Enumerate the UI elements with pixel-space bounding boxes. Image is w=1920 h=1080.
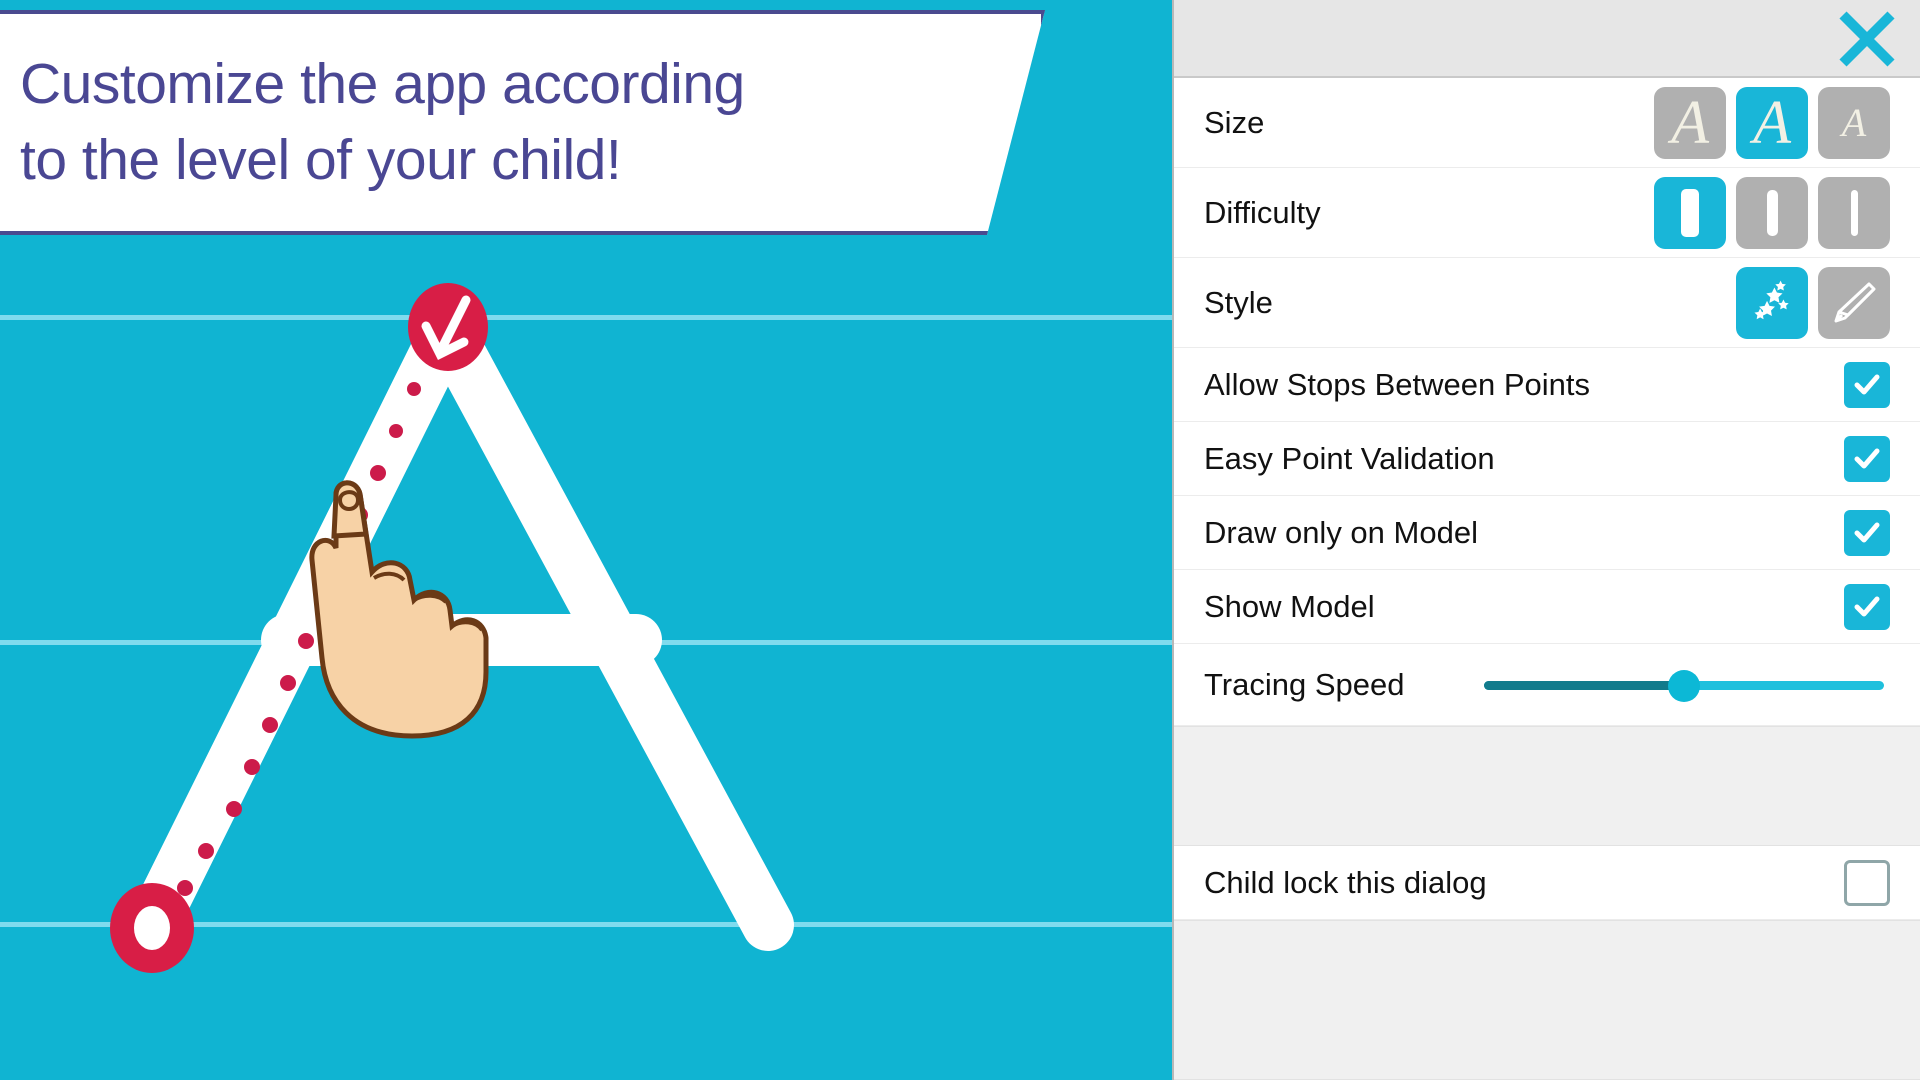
dialog-header [1174, 0, 1920, 78]
letter-a-glyph-small: A [1842, 103, 1866, 143]
style-option-group [1736, 267, 1890, 339]
row-label-show-model: Show Model [1204, 589, 1844, 625]
row-draw-only-on-model: Draw only on Model [1174, 496, 1920, 570]
checkbox-allow-stops[interactable] [1844, 362, 1890, 408]
row-difficulty: Difficulty [1174, 168, 1920, 258]
banner-line-2: to the level of your child! [20, 123, 1041, 199]
row-label-allow-stops: Allow Stops Between Points [1204, 367, 1844, 403]
slider-fill [1484, 681, 1684, 690]
style-option-pencil[interactable] [1818, 267, 1890, 339]
row-label-style: Style [1204, 285, 1736, 321]
size-option-group: A A A [1654, 87, 1890, 159]
settings-dialog: Size A A A Difficulty [1172, 0, 1920, 1080]
row-label-tracing-speed: Tracing Speed [1204, 667, 1484, 703]
slider-thumb[interactable] [1668, 670, 1700, 702]
bar-medium-icon [1767, 190, 1778, 236]
row-show-model: Show Model [1174, 570, 1920, 644]
check-icon [1852, 592, 1882, 622]
checkbox-show-model[interactable] [1844, 584, 1890, 630]
row-child-lock: Child lock this dialog [1174, 846, 1920, 920]
bar-thin-icon [1851, 190, 1858, 236]
row-style: Style [1174, 258, 1920, 348]
difficulty-option-medium[interactable] [1736, 177, 1808, 249]
row-label-draw-only-on-model: Draw only on Model [1204, 515, 1844, 551]
checkbox-child-lock[interactable] [1844, 860, 1890, 906]
difficulty-option-easy[interactable] [1654, 177, 1726, 249]
size-option-small[interactable]: A [1818, 87, 1890, 159]
close-icon[interactable] [1834, 6, 1900, 72]
checkbox-easy-point-validation[interactable] [1844, 436, 1890, 482]
pointing-hand-icon [312, 483, 486, 736]
bar-thick-icon [1681, 189, 1699, 237]
check-icon [1852, 518, 1882, 548]
pencil-icon [1827, 276, 1881, 330]
letter-tracing-canvas[interactable]: Customize the app according to the level… [0, 0, 1172, 1080]
size-option-medium[interactable]: A [1736, 87, 1808, 159]
dialog-spacer [1174, 726, 1920, 846]
row-label-easy-point-validation: Easy Point Validation [1204, 441, 1844, 477]
style-option-sparkle[interactable] [1736, 267, 1808, 339]
check-icon [1852, 370, 1882, 400]
end-circle-marker [110, 883, 194, 973]
row-easy-point-validation: Easy Point Validation [1174, 422, 1920, 496]
dialog-footer-spacer [1174, 920, 1920, 1080]
checkbox-draw-only-on-model[interactable] [1844, 510, 1890, 556]
row-allow-stops: Allow Stops Between Points [1174, 348, 1920, 422]
banner-line-1: Customize the app according [20, 47, 1041, 123]
row-tracing-speed: Tracing Speed [1174, 644, 1920, 726]
promo-banner: Customize the app according to the level… [0, 10, 1045, 235]
tracing-speed-slider[interactable] [1484, 665, 1884, 705]
check-icon [1852, 444, 1882, 474]
row-label-size: Size [1204, 105, 1654, 141]
row-label-child-lock: Child lock this dialog [1204, 865, 1844, 901]
start-arrow-marker [408, 283, 488, 371]
letter-a-glyph-medium: A [1753, 92, 1791, 154]
letter-a-glyph-large: A [1671, 92, 1709, 154]
row-label-difficulty: Difficulty [1204, 195, 1654, 231]
app-screen: Customize the app according to the level… [0, 0, 1920, 1080]
row-size: Size A A A [1174, 78, 1920, 168]
difficulty-option-hard[interactable] [1818, 177, 1890, 249]
difficulty-option-group [1654, 177, 1890, 249]
size-option-large[interactable]: A [1654, 87, 1726, 159]
stars-sparkle-icon [1744, 275, 1800, 331]
